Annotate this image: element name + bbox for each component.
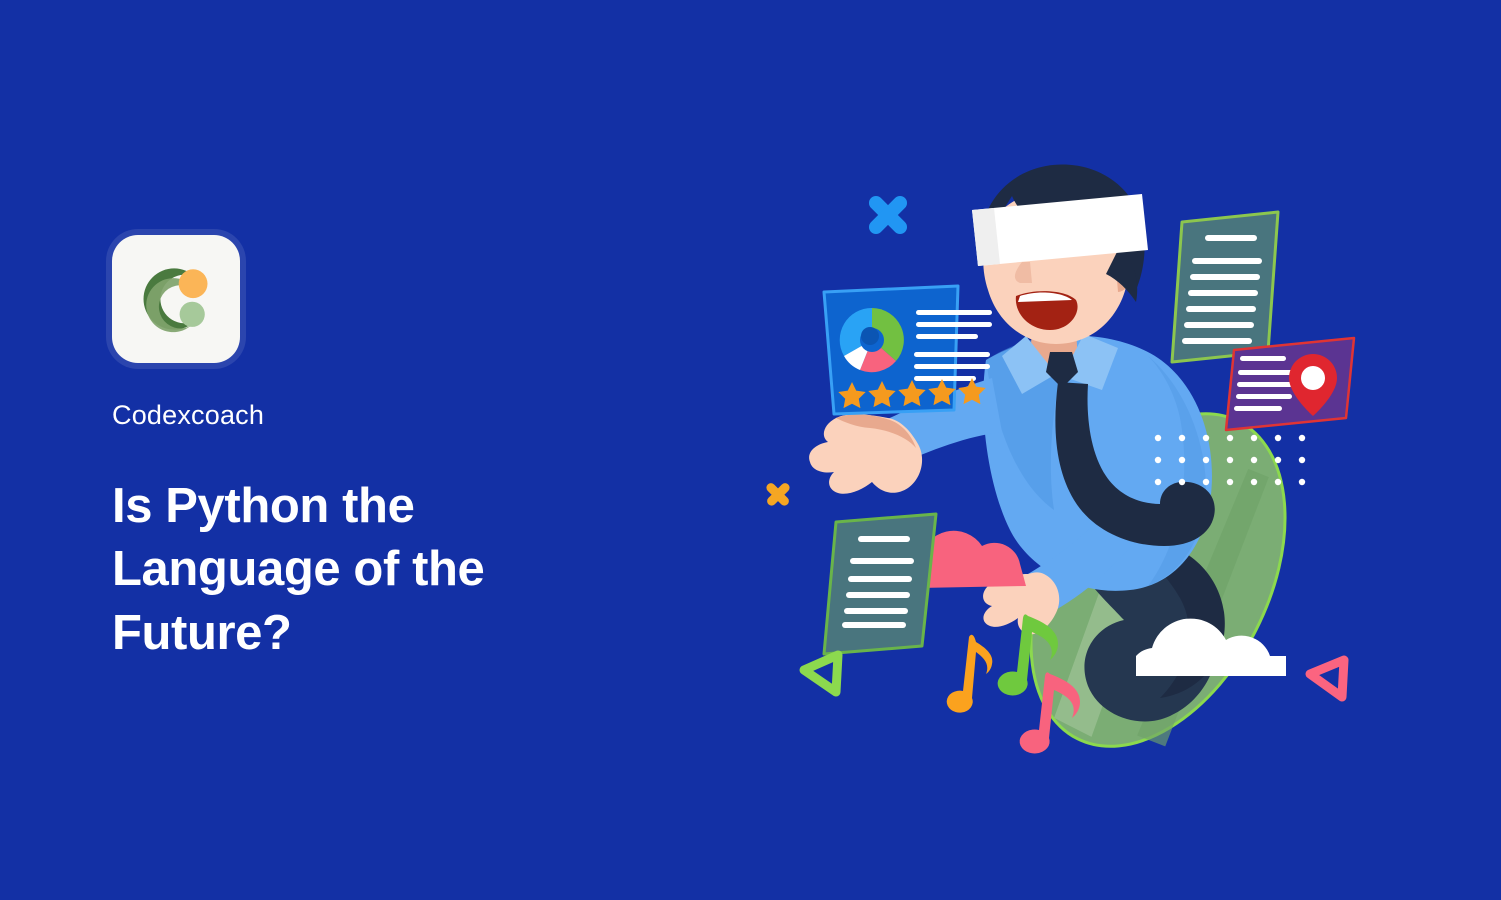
left-content-column: Codexcoach Is Python the Language of the… <box>112 235 672 666</box>
page-title: Is Python the Language of the Future? <box>112 475 582 666</box>
location-card[interactable] <box>1226 338 1354 430</box>
cross-icon-small-orange <box>765 481 792 507</box>
donut-chart-icon <box>840 308 904 372</box>
triangle-icon-green <box>804 655 838 692</box>
hero-illustration <box>740 150 1420 770</box>
music-note-icon-orange <box>947 635 993 713</box>
triangle-icon-pink <box>1310 660 1344 697</box>
analytics-card[interactable] <box>824 286 992 414</box>
cross-icon-large-blue <box>866 193 910 237</box>
codexcoach-c-logo-icon <box>131 254 221 344</box>
banner-canvas: Codexcoach Is Python the Language of the… <box>0 0 1501 900</box>
brand-logo-tile <box>112 235 240 363</box>
document-card-bottom-left[interactable] <box>824 514 936 654</box>
brand-name: Codexcoach <box>112 401 672 431</box>
document-card-top-right[interactable] <box>1172 212 1278 362</box>
